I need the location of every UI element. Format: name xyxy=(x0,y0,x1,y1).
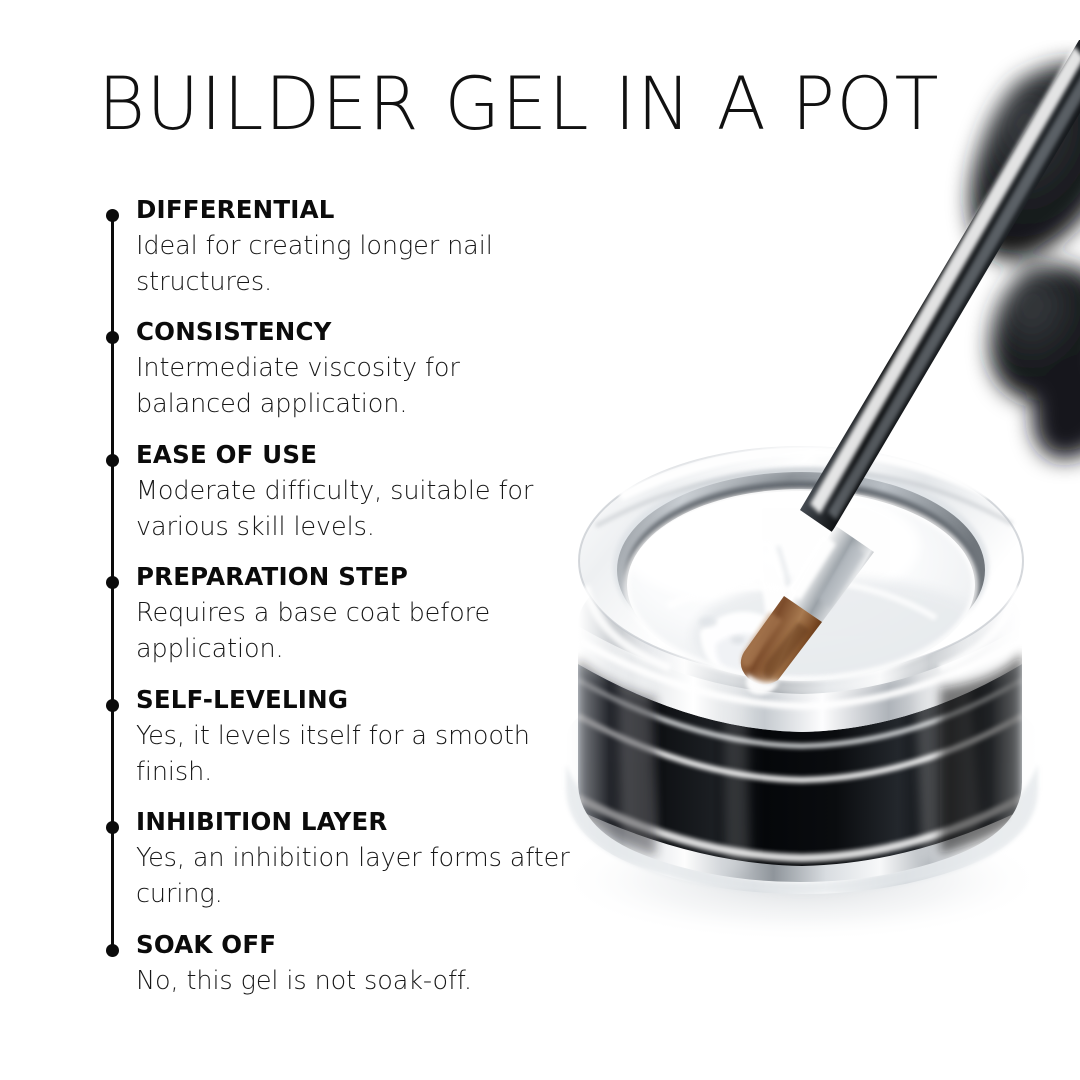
feature-description: Ideal for creating longer nail structure… xyxy=(136,228,580,300)
feature-description: Intermediate viscosity for balanced appl… xyxy=(136,350,580,422)
feature-heading: DIFFERENTIAL xyxy=(136,196,580,225)
feature-heading: PREPARATION STEP xyxy=(136,563,580,592)
feature-text: SELF-LEVELING Yes, it levels itself for … xyxy=(136,686,580,790)
feature-heading: INHIBITION LAYER xyxy=(136,808,580,837)
feature-heading: CONSISTENCY xyxy=(136,318,580,347)
filled-circle-icon xyxy=(106,821,119,834)
feature-description: Yes, an inhibition layer forms after cur… xyxy=(136,840,580,912)
feature-heading: SELF-LEVELING xyxy=(136,686,580,715)
feature-text: DIFFERENTIAL Ideal for creating longer n… xyxy=(136,196,580,300)
feature-heading: EASE OF USE xyxy=(136,441,580,470)
filled-circle-icon xyxy=(106,454,119,467)
feature-text: PREPARATION STEP Requires a base coat be… xyxy=(136,563,580,667)
feature-text: EASE OF USE Moderate difficulty, suitabl… xyxy=(136,441,580,545)
poster-canvas: BUILDER GEL IN A POT xyxy=(0,0,1080,1080)
filled-circle-icon xyxy=(106,576,119,589)
filled-circle-icon xyxy=(106,209,119,222)
feature-heading: SOAK OFF xyxy=(136,931,580,960)
feature-text: SOAK OFF No, this gel is not soak-off. xyxy=(136,931,580,999)
filled-circle-icon xyxy=(106,699,119,712)
feature-description: Yes, it levels itself for a smooth finis… xyxy=(136,718,580,790)
filled-circle-icon xyxy=(106,944,119,957)
feature-description: Requires a base coat before application. xyxy=(136,595,580,667)
feature-description: Moderate difficulty, suitable for variou… xyxy=(136,473,580,545)
feature-text: INHIBITION LAYER Yes, an inhibition laye… xyxy=(136,808,580,912)
feature-text: CONSISTENCY Intermediate viscosity for b… xyxy=(136,318,580,422)
filled-circle-icon xyxy=(106,331,119,344)
feature-description: No, this gel is not soak-off. xyxy=(136,963,580,999)
